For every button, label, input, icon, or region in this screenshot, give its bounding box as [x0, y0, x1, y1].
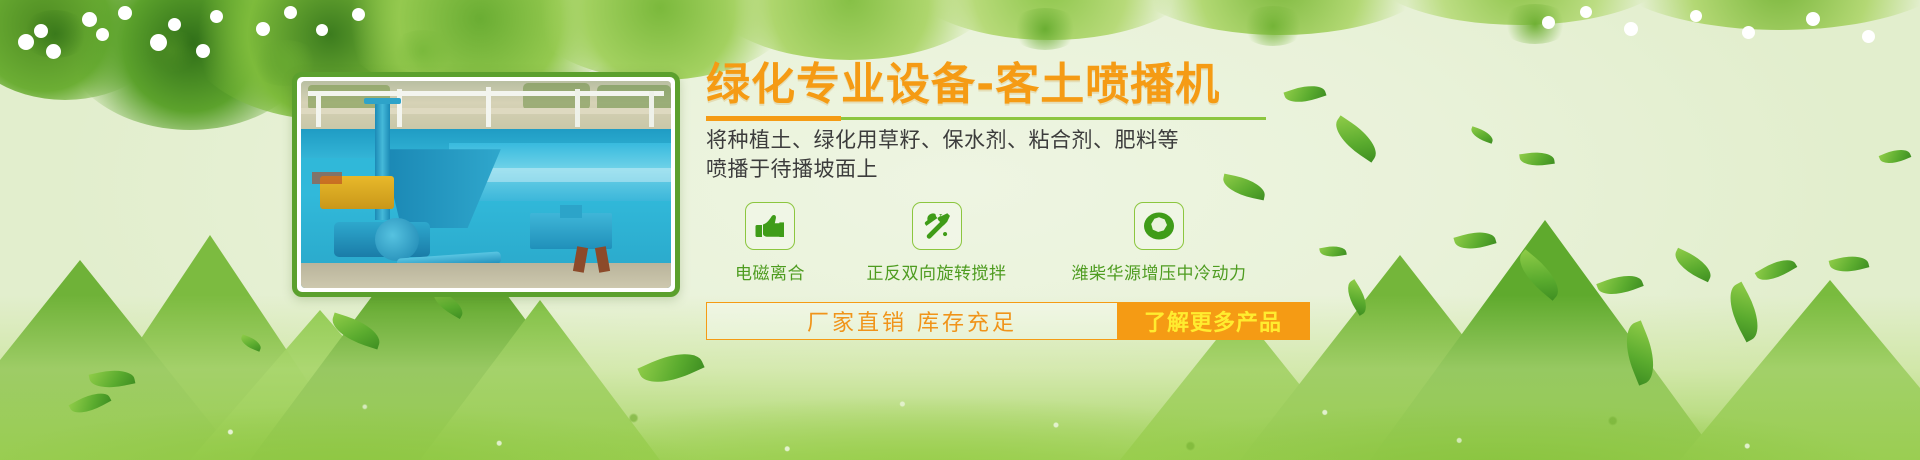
feature-item-bidirectional-mixing: 正反双向旋转搅拌 [834, 202, 1039, 284]
product-photo [301, 81, 671, 288]
feature-label: 潍柴华源增压中冷动力 [1072, 259, 1247, 284]
learn-more-button[interactable]: 了解更多产品 [1117, 303, 1309, 339]
banner-title: 绿化专业设备-客土喷播机 [706, 62, 1306, 108]
banner-content: 绿化专业设备-客土喷播机 将种植土、绿化用草籽、保水剂、粘合剂、肥料等 喷播于待… [706, 62, 1306, 340]
feature-list: 电磁离合 正反双向旋转搅拌 [706, 202, 1306, 284]
subtitle-line-1: 将种植土、绿化用草籽、保水剂、粘合剂、肥料等 [706, 126, 1306, 155]
feature-label: 正反双向旋转搅拌 [867, 259, 1007, 284]
gear-icon [1134, 202, 1184, 250]
subtitle-line-2: 喷播于待播坡面上 [706, 155, 1306, 184]
thumbs-up-icon [745, 202, 795, 250]
title-divider [706, 117, 1266, 120]
grass-speckle [0, 320, 1920, 460]
feature-item-electromagnetic-clutch: 电磁离合 [706, 202, 834, 284]
banner-subtitle: 将种植土、绿化用草籽、保水剂、粘合剂、肥料等 喷播于待播坡面上 [706, 126, 1306, 184]
cta-bar: 厂家直销 库存充足 了解更多产品 [706, 302, 1310, 340]
tools-icon [912, 202, 962, 250]
cta-slogan: 厂家直销 库存充足 [707, 303, 1117, 339]
product-photo-frame [292, 72, 680, 297]
feature-label: 电磁离合 [735, 259, 805, 284]
feature-item-weichai-power: 潍柴华源增压中冷动力 [1039, 202, 1279, 284]
promo-banner: 绿化专业设备-客土喷播机 将种植土、绿化用草籽、保水剂、粘合剂、肥料等 喷播于待… [0, 0, 1920, 460]
